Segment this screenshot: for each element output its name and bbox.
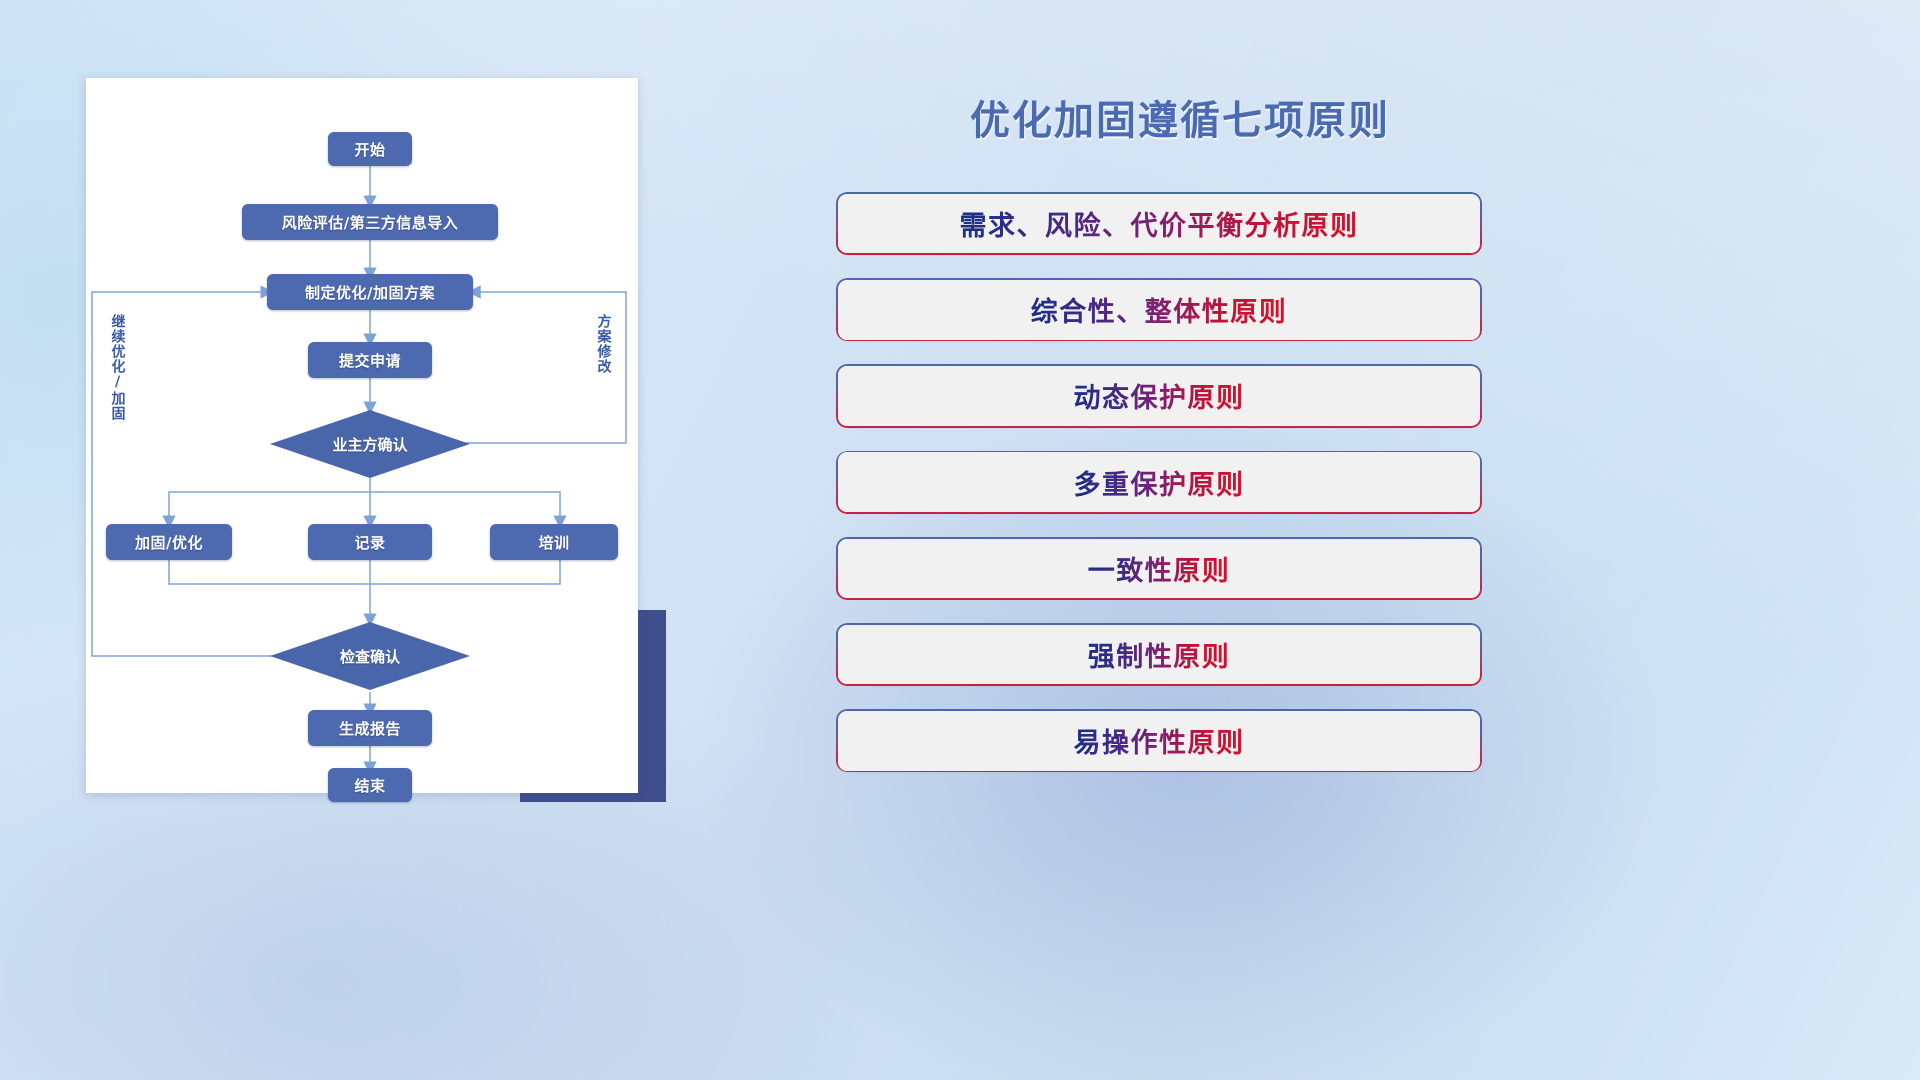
flow-decision-owner-confirm[interactable]: 业主方确认 [270,410,470,478]
flow-node-label: 制定优化/加固方案 [305,282,435,303]
flow-edge-label-left-loop: 继续优化/加固 [110,314,125,421]
flow-node-label: 风险评估/第三方信息导入 [282,212,458,233]
principle-card-body: 综合性、整体性原则 [838,280,1480,340]
principle-card-6[interactable]: 强制性原则 [836,623,1482,686]
principle-card-7[interactable]: 易操作性原则 [836,709,1482,772]
principle-label: 需求、风险、代价平衡分析原则 [960,204,1359,243]
flowchart-panel: 开始 风险评估/第三方信息导入 制定优化/加固方案 提交申请 业主方确认 加固/… [86,78,638,793]
principle-card-1[interactable]: 需求、风险、代价平衡分析原则 [836,192,1482,255]
flow-node-label: 检查确认 [340,646,400,667]
principle-card-body: 多重保护原则 [838,452,1480,512]
flow-node-label: 生成报告 [339,718,401,739]
flow-node-risk-assessment[interactable]: 风险评估/第三方信息导入 [242,204,498,240]
principle-label: 一致性原则 [1088,549,1231,588]
principle-card-body: 强制性原则 [838,625,1480,685]
principle-card-3[interactable]: 动态保护原则 [836,364,1482,427]
flow-node-report[interactable]: 生成报告 [308,710,432,746]
principle-label: 综合性、整体性原则 [1031,290,1288,329]
flow-node-reinforce[interactable]: 加固/优化 [106,524,232,560]
flow-node-label: 培训 [538,532,569,553]
page-title: 优化加固遵循七项原则 [840,88,1520,146]
flow-edge-label-right-loop: 方案修改 [596,314,611,374]
principle-card-body: 动态保护原则 [838,366,1480,426]
flow-node-record[interactable]: 记录 [308,524,432,560]
principle-label: 多重保护原则 [1074,463,1245,502]
flow-node-label: 记录 [354,532,385,553]
flow-node-start[interactable]: 开始 [328,132,412,166]
principle-card-5[interactable]: 一致性原则 [836,537,1482,600]
principles-list: 需求、风险、代价平衡分析原则 综合性、整体性原则 动态保护原则 多重保护原则 一… [836,192,1482,795]
principle-card-body: 一致性原则 [838,539,1480,599]
flow-node-submit[interactable]: 提交申请 [308,342,432,378]
principle-label: 动态保护原则 [1074,376,1245,415]
flow-node-training[interactable]: 培训 [490,524,618,560]
principle-label: 强制性原则 [1088,635,1231,674]
flow-node-label: 业主方确认 [332,434,407,455]
principle-card-4[interactable]: 多重保护原则 [836,451,1482,514]
principle-card-body: 易操作性原则 [838,711,1480,771]
principle-card-body: 需求、风险、代价平衡分析原则 [838,194,1480,254]
flow-node-end[interactable]: 结束 [328,768,412,802]
flow-node-label: 结束 [354,775,385,796]
flow-node-label: 开始 [354,139,385,160]
flow-node-plan[interactable]: 制定优化/加固方案 [267,274,473,310]
principle-card-2[interactable]: 综合性、整体性原则 [836,278,1482,341]
flow-node-label: 提交申请 [339,350,401,371]
principle-label: 易操作性原则 [1074,721,1245,760]
flow-node-label: 加固/优化 [135,532,203,553]
flow-decision-inspection[interactable]: 检查确认 [270,622,470,690]
